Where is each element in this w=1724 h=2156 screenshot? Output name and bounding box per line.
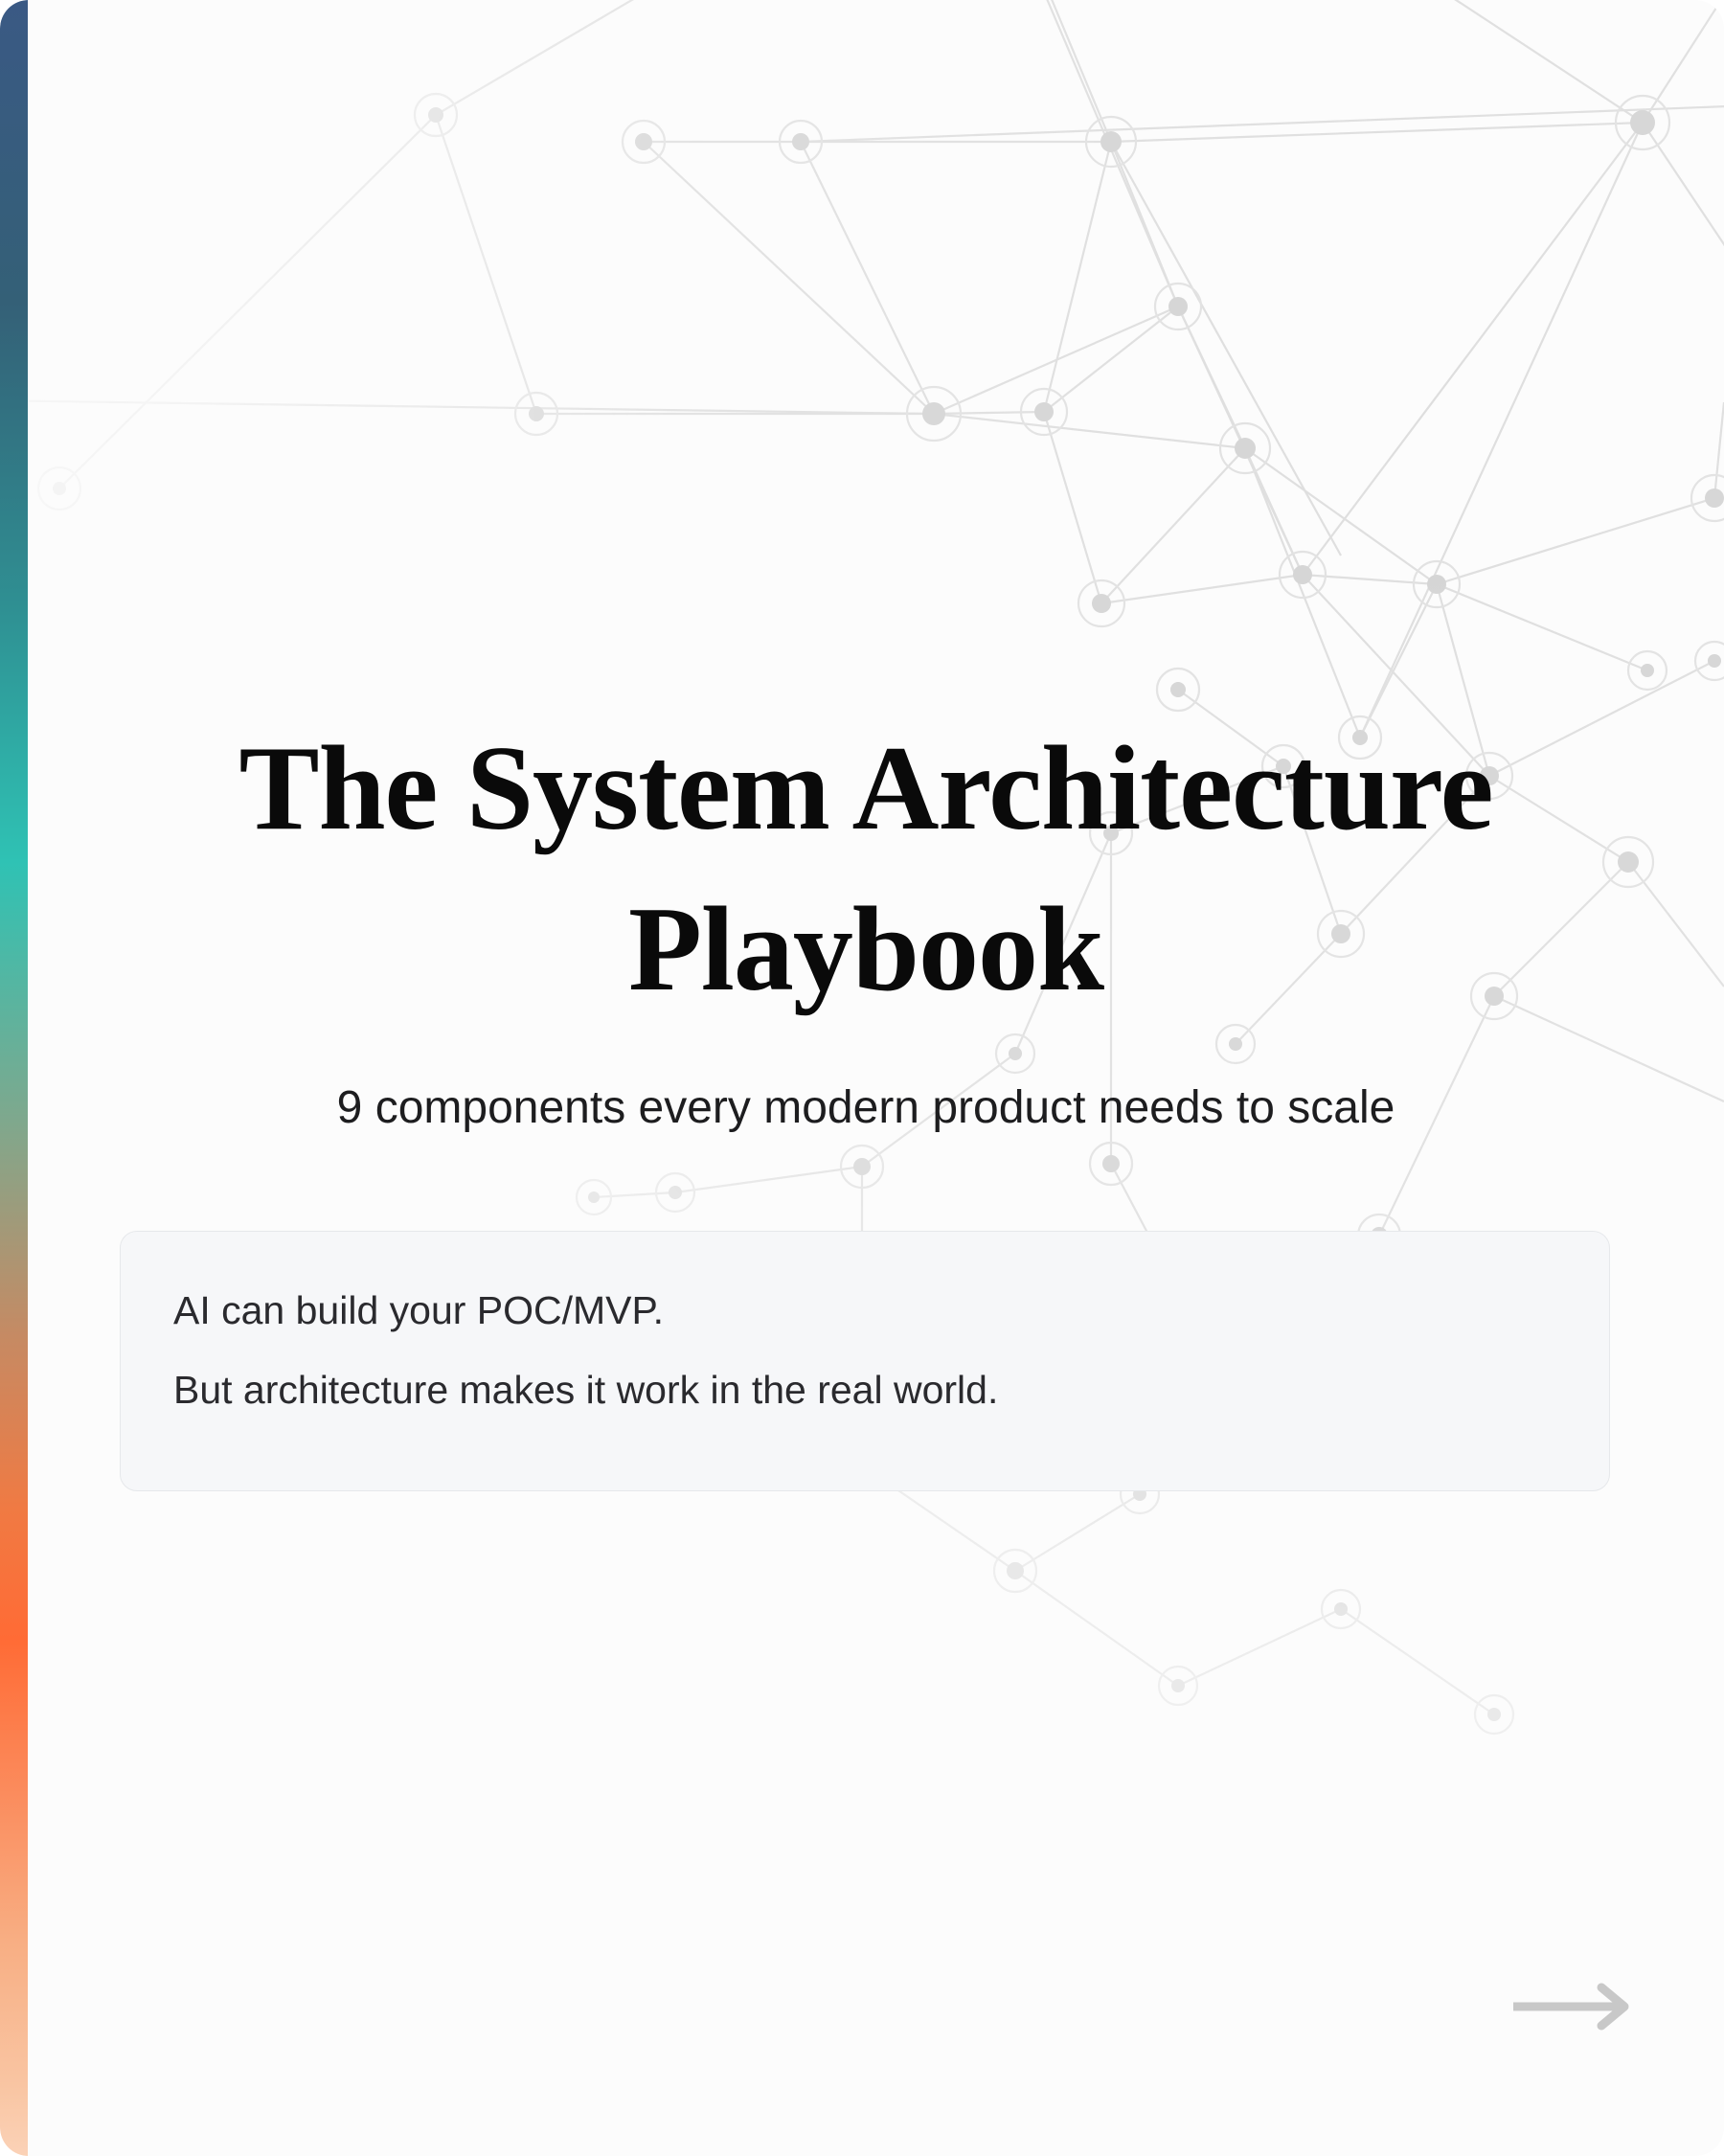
slide-canvas: The System Architecture Playbook 9 compo… <box>0 0 1724 2156</box>
page-title: The System Architecture Playbook <box>171 709 1560 1030</box>
callout-line-1: AI can build your POC/MVP. <box>173 1291 1556 1330</box>
slide-content: The System Architecture Playbook 9 compo… <box>28 0 1724 2156</box>
gradient-accent-bar <box>0 0 28 2156</box>
arrow-right-icon[interactable] <box>1509 1980 1636 2033</box>
page-subtitle: 9 components every modern product needs … <box>171 1078 1560 1140</box>
callout-box: AI can build your POC/MVP. But architect… <box>120 1231 1610 1491</box>
callout-line-2: But architecture makes it work in the re… <box>173 1371 1556 1410</box>
